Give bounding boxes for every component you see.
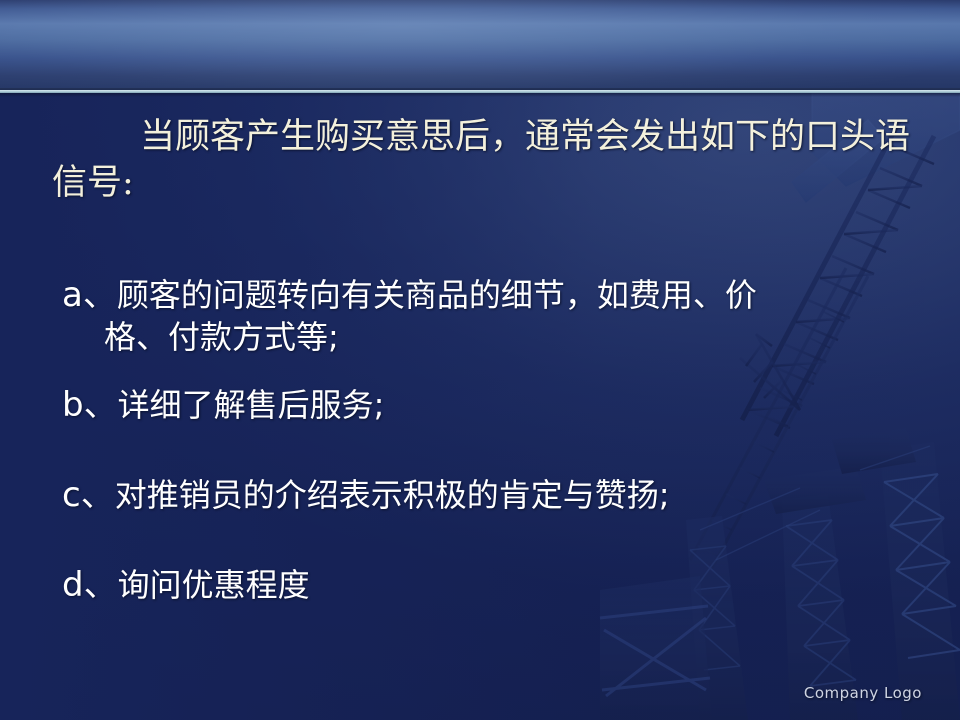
list-item: b、详细了解售后服务; [0, 384, 960, 426]
list-item-text: 询问优惠程度 [118, 566, 310, 604]
list-item-text: 详细了解售后服务; [118, 386, 385, 424]
list-item-marker: a、 [62, 275, 117, 315]
list-item: d、询问优惠程度 [0, 564, 960, 606]
list-item: a、顾客的问题转向有关商品的细节，如费用、价 格、付款方式等; [0, 274, 960, 358]
list-item-marker: c、 [62, 475, 115, 515]
list-item-marker: d、 [62, 565, 118, 605]
header-glow-overlay [0, 0, 960, 88]
bullet-list: a、顾客的问题转向有关商品的细节，如费用、价 格、付款方式等; b、详细了解售后… [0, 274, 960, 606]
header-divider-line [0, 90, 960, 93]
list-item-text: 对推销员的介绍表示积极的肯定与赞扬; [115, 476, 670, 514]
list-item-text: 顾客的问题转向有关商品的细节，如费用、价 [117, 276, 757, 314]
list-item-continuation: 格、付款方式等; [62, 316, 942, 358]
slide-header-band [0, 0, 960, 88]
presentation-slide: 口头语信号 当顾客产生购买意思后，通常会发出如下的口头语信号: a、顾客的问题转… [0, 0, 960, 720]
list-item-marker: b、 [62, 385, 118, 425]
intro-paragraph: 当顾客产生购买意思后，通常会发出如下的口头语信号: [52, 114, 912, 206]
company-logo-placeholder: Company Logo [804, 684, 922, 702]
slide-content: 当顾客产生购买意思后，通常会发出如下的口头语信号: a、顾客的问题转向有关商品的… [0, 96, 960, 720]
list-item: c、对推销员的介绍表示积极的肯定与赞扬; [0, 474, 960, 516]
